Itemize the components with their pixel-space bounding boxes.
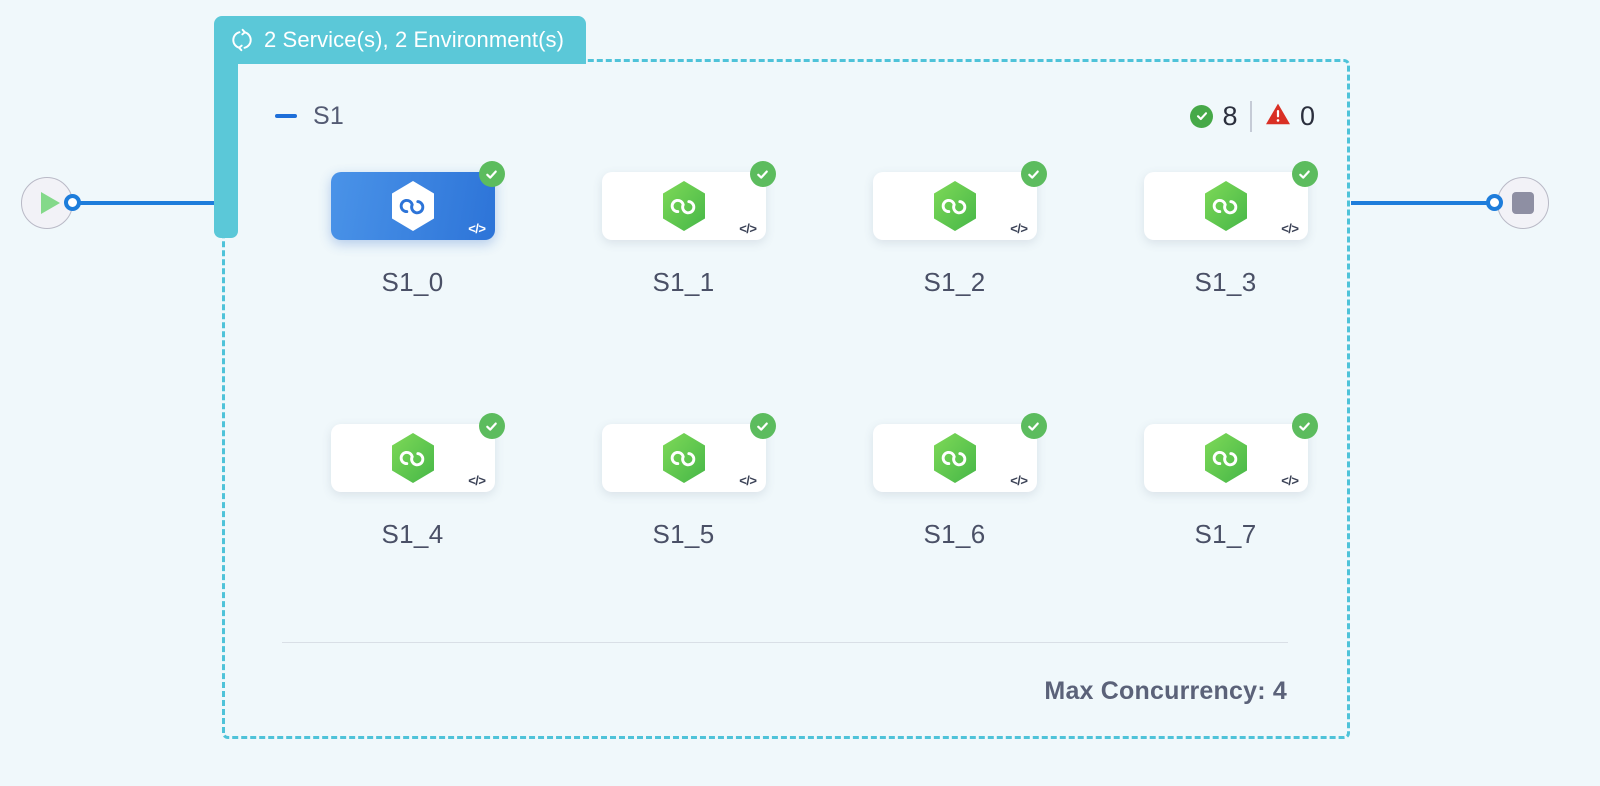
- warning-triangle-icon: [1265, 102, 1291, 131]
- service-node-card-wrapper: </>: [873, 424, 1037, 492]
- check-badge-icon: [1292, 161, 1318, 187]
- check-badge-icon: [479, 161, 505, 187]
- play-icon: [41, 192, 60, 214]
- edge-group-to-end: [1351, 201, 1497, 205]
- service-node-card-wrapper: </>: [602, 172, 766, 240]
- service-node-s1_0: </>S1_0: [277, 172, 548, 424]
- group-type-tab[interactable]: 2 Service(s), 2 Environment(s): [214, 16, 586, 64]
- collapse-minus-icon[interactable]: [275, 114, 297, 118]
- loop-refresh-icon: [230, 28, 254, 52]
- group-type-tab-label: 2 Service(s), 2 Environment(s): [264, 27, 564, 53]
- end-node-input-handle[interactable]: [1486, 194, 1503, 211]
- code-brackets-icon[interactable]: </>: [468, 221, 485, 236]
- service-node-s1_1: </>S1_1: [548, 172, 819, 424]
- group-name-label: S1: [313, 102, 344, 131]
- service-node-label: S1_7: [1195, 519, 1257, 550]
- service-node-label: S1_0: [382, 267, 444, 298]
- service-node-card-wrapper: </>: [1144, 424, 1308, 492]
- group-spine: [214, 60, 238, 238]
- service-node-s1_7: </>S1_7: [1090, 424, 1361, 676]
- service-node-s1_3: </>S1_3: [1090, 172, 1361, 424]
- edge-start-to-group: [78, 201, 224, 205]
- service-node-s1_6: </>S1_6: [819, 424, 1090, 676]
- check-badge-icon: [750, 161, 776, 187]
- service-node-card-wrapper: </>: [331, 424, 495, 492]
- success-stat: 8: [1190, 101, 1237, 132]
- code-brackets-icon[interactable]: </>: [1010, 473, 1027, 488]
- service-node-card-wrapper: </>: [1144, 172, 1308, 240]
- check-badge-icon: [1021, 413, 1047, 439]
- code-brackets-icon[interactable]: </>: [1281, 221, 1298, 236]
- start-node-output-handle[interactable]: [64, 194, 81, 211]
- code-brackets-icon[interactable]: </>: [739, 221, 756, 236]
- code-brackets-icon[interactable]: </>: [1010, 221, 1027, 236]
- check-badge-icon: [1021, 161, 1047, 187]
- service-node-card-wrapper: </>: [331, 172, 495, 240]
- service-group-container[interactable]: S1 8: [222, 59, 1350, 739]
- service-node-s1_2: </>S1_2: [819, 172, 1090, 424]
- error-count: 0: [1300, 101, 1315, 132]
- service-node-label: S1_1: [653, 267, 715, 298]
- check-badge-icon: [1292, 413, 1318, 439]
- group-status-summary: 8 0: [1190, 101, 1315, 132]
- success-count: 8: [1222, 101, 1237, 132]
- service-node-card-wrapper: </>: [873, 172, 1037, 240]
- error-stat: 0: [1265, 101, 1315, 132]
- stop-icon: [1512, 192, 1534, 214]
- code-brackets-icon[interactable]: </>: [1281, 473, 1298, 488]
- service-node-label: S1_3: [1195, 267, 1257, 298]
- code-brackets-icon[interactable]: </>: [739, 473, 756, 488]
- group-footer-divider: [282, 642, 1288, 644]
- check-badge-icon: [479, 413, 505, 439]
- stat-divider: [1250, 101, 1252, 132]
- service-node-grid: </>S1_0</>S1_1</>S1_2</>S1_3</>S1_4</>S1…: [277, 172, 1317, 676]
- service-node-s1_4: </>S1_4: [277, 424, 548, 676]
- service-node-card-wrapper: </>: [602, 424, 766, 492]
- service-node-s1_5: </>S1_5: [548, 424, 819, 676]
- check-badge-icon: [750, 413, 776, 439]
- end-node[interactable]: [1497, 177, 1549, 229]
- group-header-left: S1: [275, 102, 344, 131]
- service-node-label: S1_2: [924, 267, 986, 298]
- service-node-label: S1_5: [653, 519, 715, 550]
- service-node-label: S1_4: [382, 519, 444, 550]
- check-circle-icon: [1190, 105, 1213, 128]
- group-header: S1 8: [275, 95, 1315, 137]
- max-concurrency-label: Max Concurrency: 4: [1044, 677, 1287, 706]
- service-node-label: S1_6: [924, 519, 986, 550]
- code-brackets-icon[interactable]: </>: [468, 473, 485, 488]
- workflow-canvas: 2 Service(s), 2 Environment(s) S1 8: [0, 0, 1600, 786]
